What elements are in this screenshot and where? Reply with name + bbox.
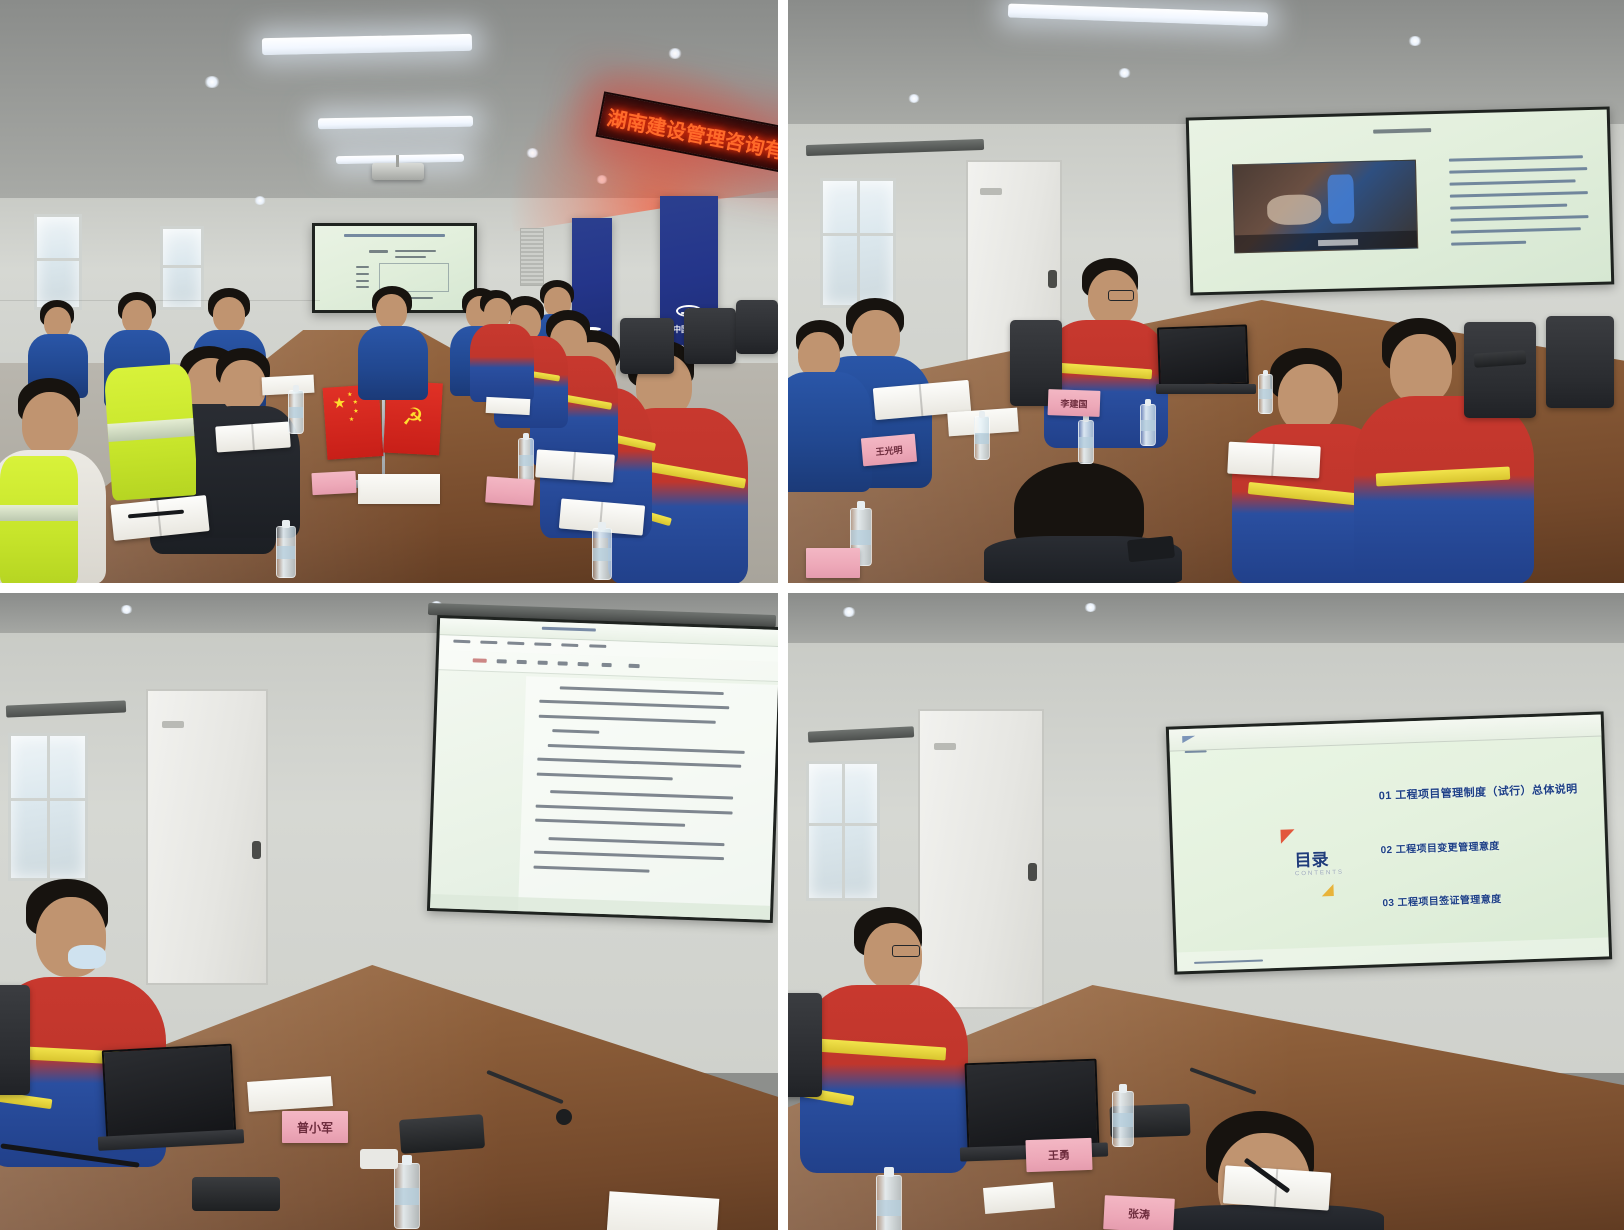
downlight-3 [526,148,539,158]
projector-arm [396,155,399,167]
slide-contents-item-2: 02 工程项目变更管理意度 [1380,837,1500,856]
slide-heading [1373,128,1432,134]
mulu-label: 目录 CONTENTS [1294,845,1344,878]
water-bottle [1258,374,1273,414]
name-placard-3 [806,548,860,578]
chair [0,985,30,1095]
photo-panel-2: 王光明 李建国 [788,0,1624,583]
water-bottle [1112,1091,1134,1147]
notebook [1223,1165,1331,1210]
slide-item-text-3: 工程项目签证管理意度 [1397,894,1501,909]
mulu-arrow-yellow-icon [1321,884,1333,896]
window [820,178,896,308]
laptop [1157,324,1249,387]
downlight-1 [120,605,133,614]
chair [788,993,822,1097]
mulu-arrow-red-icon [1280,829,1294,843]
door [918,709,1044,1009]
laptop-base [1156,384,1256,394]
slide-item-num-2: 02 [1380,844,1392,855]
downlight-5 [596,175,608,184]
name-placard-1: 王勇 [1025,1138,1092,1172]
slide-item-num-3: 03 [1382,898,1394,909]
ceiling [788,593,1624,649]
photo-panel-3: 普小军 [0,593,778,1230]
name-placard [485,476,535,505]
document-page [518,676,778,920]
chair [736,300,778,354]
downlight-1 [842,607,856,617]
water-bottle [974,416,990,460]
water-bottle [876,1175,902,1230]
downlight-2 [908,94,920,103]
photo-panel-1: 湖南建设管理咨询有限公司 [0,0,778,583]
hivis-vest [104,363,199,501]
notebook [1227,442,1321,479]
photo-panel-4: 目录 CONTENTS 01 工程项目管理制度（试行）总体说明 02 工程项目变… [788,593,1624,1230]
downlight-2 [1084,603,1097,612]
slide-photo [1232,159,1418,253]
notebook [535,449,615,482]
name-placard-2: 张涛 [1103,1195,1175,1230]
water-bottle [1140,404,1156,446]
paper-sheet [607,1191,720,1230]
downlight-1 [1118,68,1131,78]
chair [1464,322,1536,418]
slide-contents-item-3: 03 工程项目签证管理意度 [1382,890,1502,909]
conference-mic-unit [399,1114,485,1154]
laptop [102,1044,237,1141]
slide-item-num-1: 01 [1379,790,1392,802]
party-emblem-icon: ☭ [402,405,425,430]
wall-vent [520,228,544,286]
projector-screen-frame: 目录 CONTENTS 01 工程项目管理制度（试行）总体说明 02 工程项目变… [1166,711,1612,974]
slide-logo-icon [1182,733,1204,746]
window [806,761,880,901]
glasses-icon [892,945,920,957]
mulu-sub: CONTENTS [1295,870,1344,878]
chair [684,308,736,364]
window-left-2 [160,226,204,310]
water-bottle [276,526,296,578]
conference-mic-unit-2 [192,1177,280,1211]
photo-collage: 湖南建设管理咨询有限公司 [0,0,1624,1230]
water-bottle [592,528,612,580]
slide-contents-item-1: 01 工程项目管理制度（试行）总体说明 [1378,781,1577,804]
downlight-1 [204,76,220,88]
water-bottle [288,390,304,434]
projector-screen-slide: 目录 CONTENTS 01 工程项目管理制度（试行）总体说明 02 工程项目变… [1169,715,1609,972]
paper-sheet [247,1076,333,1112]
projector-screen-frame [427,615,778,923]
name-placard-presenter: 普小军 [282,1111,348,1143]
smartphone [360,1149,398,1169]
chair [1546,316,1614,408]
name-placard [311,471,356,495]
downlight-6 [668,48,682,59]
hivis-vest [0,456,78,583]
face-mask [68,945,106,969]
door [146,689,268,985]
water-bottle [1078,420,1094,464]
water-bottle [518,438,534,482]
downlight-3 [1408,36,1422,46]
projector-screen-frame [1186,106,1615,295]
projector-screen [1189,110,1611,293]
notebook [215,421,291,452]
water-bottle [394,1163,420,1229]
glasses-icon [1108,290,1134,301]
slide-item-text-1: 工程项目管理制度（试行）总体说明 [1395,784,1578,802]
mic-head [556,1109,572,1125]
window-left-1 [34,214,82,310]
window [8,733,88,881]
slide-item-text-2: 工程项目变更管理意度 [1396,841,1500,856]
chair [620,318,674,374]
paper-sheet [358,474,440,504]
name-placard-1: 王光明 [861,434,917,467]
downlight-2 [254,196,266,205]
projector-screen-document [430,618,778,920]
paper-sheet [486,397,531,415]
name-placard-2: 李建国 [1048,389,1101,417]
